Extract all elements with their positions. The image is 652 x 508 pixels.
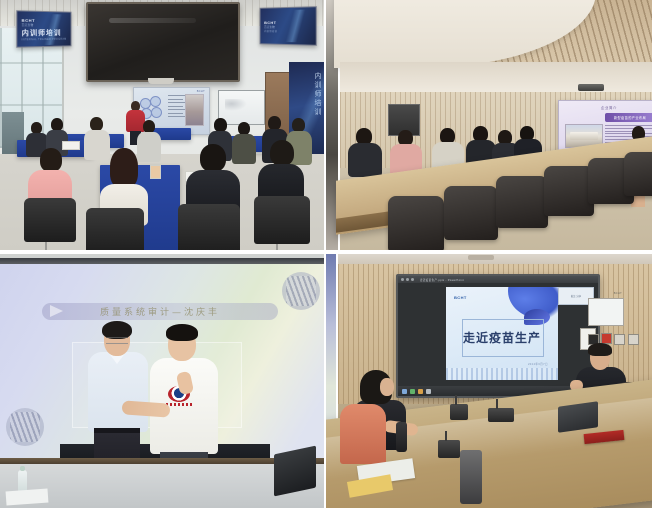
control-switch[interactable]	[628, 334, 639, 345]
tumbler	[396, 422, 407, 452]
slide-bottom-strip	[446, 368, 558, 380]
window-dot	[411, 278, 414, 281]
taskbar-icon[interactable]	[426, 389, 431, 394]
ceiling-vent	[468, 255, 494, 260]
collage-panel-bottom-left[interactable]: 质量系统审计—沈庆丰	[0, 252, 324, 508]
banner-streak	[38, 14, 69, 45]
chair	[86, 208, 144, 250]
window-title: 走近疫苗生产.pptx - PowerPoint	[420, 278, 464, 282]
photo-meeting-vaccine: 走近疫苗生产.pptx - PowerPoint BCHT 走近疫苗生产 202…	[326, 254, 652, 508]
torso	[348, 143, 382, 177]
slide-header: 企业简介	[601, 105, 617, 110]
slide-portrait	[185, 94, 204, 126]
chair	[496, 176, 548, 228]
slide-logo: BCHT	[197, 90, 205, 93]
watermark-icon	[282, 272, 320, 310]
collage-panel-bottom-right[interactable]: 走近疫苗生产.pptx - PowerPoint BCHT 走近疫苗生产 202…	[324, 252, 652, 508]
face	[380, 378, 394, 396]
microphone-stand	[460, 450, 482, 504]
slide-title: 质量系统审计—沈庆丰	[100, 305, 220, 318]
chair	[624, 152, 652, 196]
microphone	[488, 408, 514, 422]
laptop	[274, 446, 316, 497]
chair	[24, 198, 76, 242]
slide-logo: BCHT	[454, 295, 467, 300]
banner-right: BCHT 百克生物 内训师培训	[260, 6, 317, 46]
display-mount	[148, 78, 174, 84]
head	[214, 118, 227, 132]
ceiling-soffit	[340, 62, 652, 92]
desk-item	[150, 165, 161, 179]
photo-boardroom-presentation: 企业简介 新型疫苗的产业布局	[326, 0, 652, 250]
chair	[544, 166, 594, 216]
right-banner-text: 内训师培训	[312, 72, 322, 117]
whiteboard-label: BCHT	[614, 292, 622, 295]
window-dot	[406, 278, 409, 281]
hair	[166, 324, 198, 341]
chair	[444, 186, 498, 240]
photo-handshake: 质量系统审计—沈庆丰	[0, 254, 324, 508]
papers	[6, 489, 49, 506]
microphone	[438, 440, 460, 458]
photo-collage: BCHT 百克生物 内训师培训 INTERNAL TRAINER PROGRAM…	[0, 0, 652, 508]
window-titlebar: 走近疫苗生产.pptx - PowerPoint	[398, 276, 598, 283]
chair	[254, 196, 310, 244]
glasses-icon	[106, 337, 128, 344]
boardroom-background: 企业简介 新型疫苗的产业布局	[340, 0, 652, 250]
collage-panel-top-right[interactable]: 企业简介 新型疫苗的产业布局	[324, 0, 652, 252]
head	[292, 118, 305, 132]
dress-shirt	[88, 352, 148, 432]
slide-title-bar: 质量系统审计—沈庆丰	[42, 303, 278, 320]
hair	[110, 148, 138, 188]
slide-content: BCHT 走近疫苗生产 2024年6月7日	[446, 287, 558, 380]
whiteboard	[588, 298, 624, 326]
head	[268, 116, 281, 130]
meeting-room-background: 走近疫苗生产.pptx - PowerPoint BCHT 走近疫苗生产 202…	[338, 254, 652, 508]
slide-date: 2024年6月7日	[528, 362, 548, 366]
screen-frame-top	[0, 258, 324, 264]
person-attendee	[348, 128, 382, 174]
window-dot	[401, 278, 404, 281]
head	[90, 117, 103, 131]
head	[40, 148, 62, 172]
slide-title: 走近疫苗生产	[446, 329, 558, 346]
collage-panel-top-left[interactable]: BCHT 百克生物 内训师培训 INTERNAL TRAINER PROGRAM…	[0, 0, 324, 252]
taskbar-icon[interactable]	[410, 389, 415, 394]
wall-screen: 走近疫苗生产.pptx - PowerPoint BCHT 走近疫苗生产 202…	[396, 274, 600, 398]
hair	[588, 343, 612, 356]
slide-title-bar: 新型疫苗的产业布局	[605, 113, 652, 122]
wall-display	[86, 2, 240, 82]
microphone	[450, 404, 468, 420]
projector	[578, 84, 604, 91]
chair	[388, 196, 444, 250]
photo-classroom-training: BCHT 百克生物 内训师培训 INTERNAL TRAINER PROGRAM…	[0, 0, 324, 250]
person-attendee	[390, 130, 422, 174]
watermark-icon	[6, 408, 44, 446]
control-switch[interactable]	[614, 334, 625, 345]
person-attendee	[340, 404, 386, 464]
belt	[94, 428, 140, 433]
banner-streak	[280, 9, 314, 43]
head	[200, 144, 226, 172]
head	[270, 140, 294, 166]
chair	[178, 204, 240, 250]
banner-left: BCHT 百克生物 内训师培训 INTERNAL TRAINER PROGRAM	[16, 10, 71, 48]
taskbar-icon[interactable]	[418, 389, 423, 394]
